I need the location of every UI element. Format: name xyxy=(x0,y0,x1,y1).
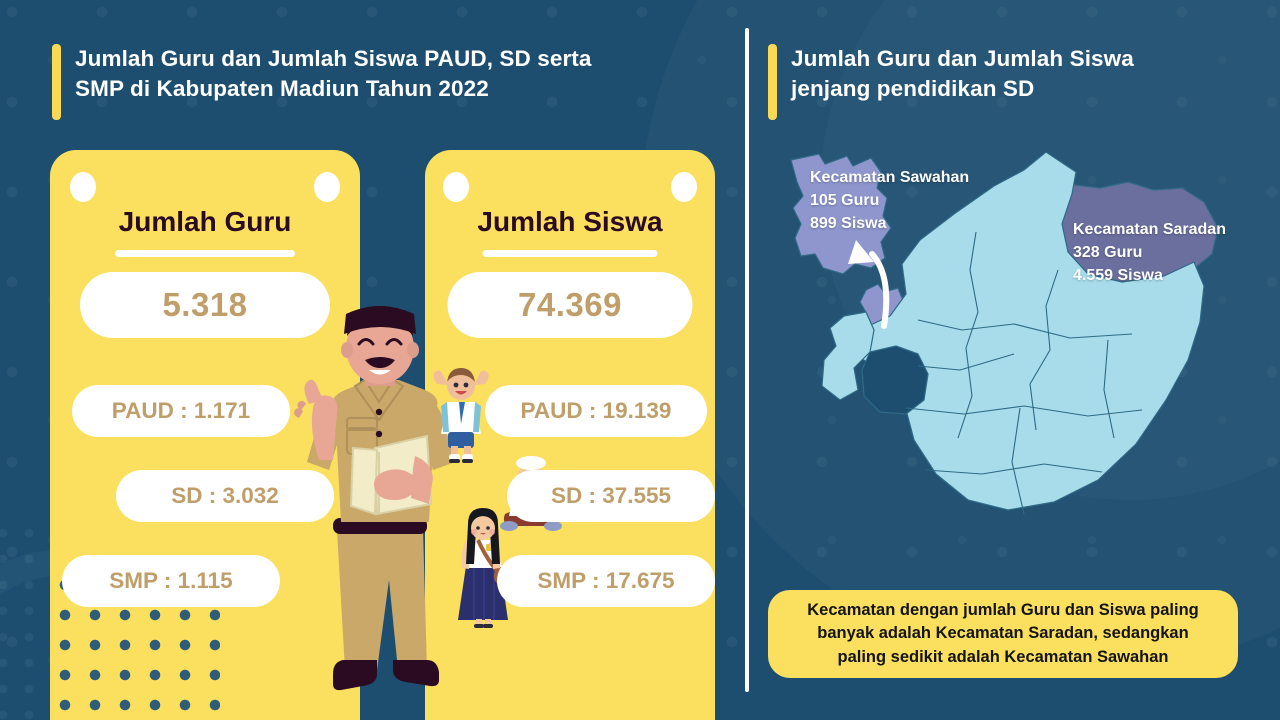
map-caption-box: Kecamatan dengan jumlah Guru dan Siswa p… xyxy=(768,590,1238,678)
title-accent-bar-right xyxy=(768,44,777,120)
stat-row-guru-smp: SMP : 1.115 xyxy=(62,555,280,607)
right-panel-title: Jumlah Guru dan Jumlah Siswa jenjang pen… xyxy=(768,44,1238,120)
stat-row-siswa-paud: PAUD : 19.139 xyxy=(485,385,707,437)
panel-divider xyxy=(745,28,749,692)
stat-row-siswa-sd: SD : 37.555 xyxy=(507,470,715,522)
map-label-saradan: Kecamatan Saradan 328 Guru 4.559 Siswa xyxy=(1073,218,1226,288)
title-row: Jumlah Guru dan Jumlah Siswa PAUD, SD se… xyxy=(0,44,1280,136)
map-kabupaten-madiun: Kecamatan Sawahan 105 Guru 899 Siswa Kec… xyxy=(758,140,1263,565)
right-panel-title-text: Jumlah Guru dan Jumlah Siswa jenjang pen… xyxy=(791,44,1134,104)
stat-row-guru-paud: PAUD : 1.171 xyxy=(72,385,290,437)
map-region-dark[interactable] xyxy=(862,346,928,414)
stat-row-siswa-smp: SMP : 17.675 xyxy=(497,555,715,607)
left-panel-title-text: Jumlah Guru dan Jumlah Siswa PAUD, SD se… xyxy=(75,44,592,104)
title-accent-bar xyxy=(52,44,61,120)
left-panel-title: Jumlah Guru dan Jumlah Siswa PAUD, SD se… xyxy=(52,44,712,120)
stat-row-guru-sd: SD : 3.032 xyxy=(116,470,334,522)
map-label-sawahan: Kecamatan Sawahan 105 Guru 899 Siswa xyxy=(810,166,969,236)
